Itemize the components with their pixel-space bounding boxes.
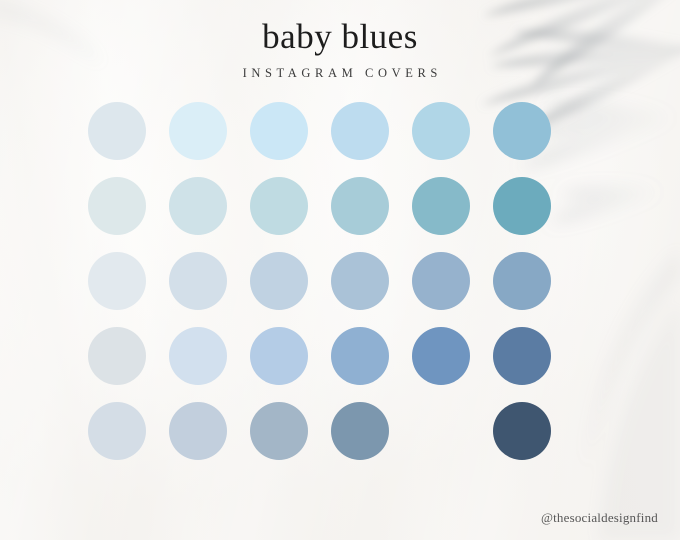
color-swatch[interactable]: [412, 177, 470, 235]
color-swatch[interactable]: [331, 177, 389, 235]
color-swatch[interactable]: [250, 327, 308, 385]
palette-poster: baby blues INSTAGRAM COVERS @thesocialde…: [0, 0, 680, 540]
poster-header: baby blues INSTAGRAM COVERS: [0, 16, 680, 81]
color-swatch[interactable]: [412, 252, 470, 310]
color-swatch-grid: [88, 102, 594, 460]
color-swatch[interactable]: [169, 402, 227, 460]
color-swatch[interactable]: [493, 252, 551, 310]
color-swatch[interactable]: [88, 327, 146, 385]
color-swatch[interactable]: [493, 327, 551, 385]
color-swatch[interactable]: [412, 327, 470, 385]
color-swatch[interactable]: [412, 102, 470, 160]
page-title: baby blues: [0, 16, 680, 57]
color-swatch[interactable]: [331, 102, 389, 160]
color-swatch[interactable]: [331, 252, 389, 310]
color-swatch[interactable]: [493, 102, 551, 160]
color-swatch[interactable]: [493, 177, 551, 235]
color-swatch[interactable]: [250, 252, 308, 310]
color-swatch[interactable]: [250, 102, 308, 160]
swatch-row: [88, 102, 594, 160]
swatch-row: [88, 252, 594, 310]
watermark-handle: @thesocialdesignfind: [541, 510, 658, 526]
color-swatch[interactable]: [88, 402, 146, 460]
swatch-row: [88, 327, 594, 385]
color-swatch[interactable]: [88, 252, 146, 310]
color-swatch[interactable]: [88, 102, 146, 160]
color-swatch[interactable]: [250, 177, 308, 235]
swatch-row: [88, 402, 594, 460]
swatch-row: [88, 177, 594, 235]
page-subtitle: INSTAGRAM COVERS: [0, 66, 680, 81]
color-swatch[interactable]: [169, 102, 227, 160]
color-swatch[interactable]: [169, 177, 227, 235]
color-swatch[interactable]: [331, 402, 389, 460]
color-swatch[interactable]: [331, 327, 389, 385]
color-swatch[interactable]: [169, 252, 227, 310]
color-swatch[interactable]: [250, 402, 308, 460]
color-swatch[interactable]: [169, 327, 227, 385]
color-swatch[interactable]: [493, 402, 551, 460]
color-swatch[interactable]: [412, 402, 470, 460]
color-swatch[interactable]: [88, 177, 146, 235]
